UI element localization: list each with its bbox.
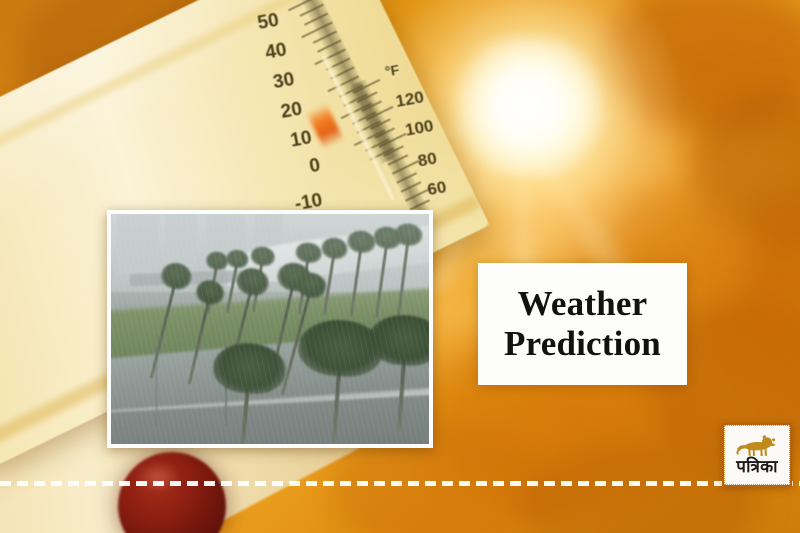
dashed-divider [0,481,800,486]
fahrenheit-unit-label: °F [384,61,401,79]
celsius-tick-label: 50 [256,10,281,35]
title-line-1: Weather [518,284,648,324]
celsius-tick-label: 0 [308,155,322,179]
patrika-wordmark: पत्रिका [736,458,778,475]
celsius-tick-label: 40 [264,39,289,64]
fahrenheit-tick-label: 80 [416,149,438,172]
storm-photo-frame [107,210,433,448]
photo-haze [111,214,429,444]
fahrenheit-tick-label: 100 [404,116,435,141]
patrika-logo[interactable]: पत्रिका [722,423,792,487]
patrika-logo-inner: पत्रिका [724,425,790,485]
title-line-2: Prediction [504,324,661,364]
lion-icon [736,435,778,457]
celsius-tick-label: 30 [271,69,296,94]
thermometer-bulb-highlight [136,462,180,492]
storm-photo [111,214,429,444]
screenshot-canvas: °C 50 40 30 20 10 0 -10 [0,0,800,533]
fahrenheit-tick-label: 120 [394,87,425,112]
celsius-tick-label: 10 [289,127,314,152]
fahrenheit-tick-label: 60 [426,177,448,200]
weather-prediction-card: Weather Prediction [478,263,687,385]
celsius-tick-label: 20 [279,99,304,124]
